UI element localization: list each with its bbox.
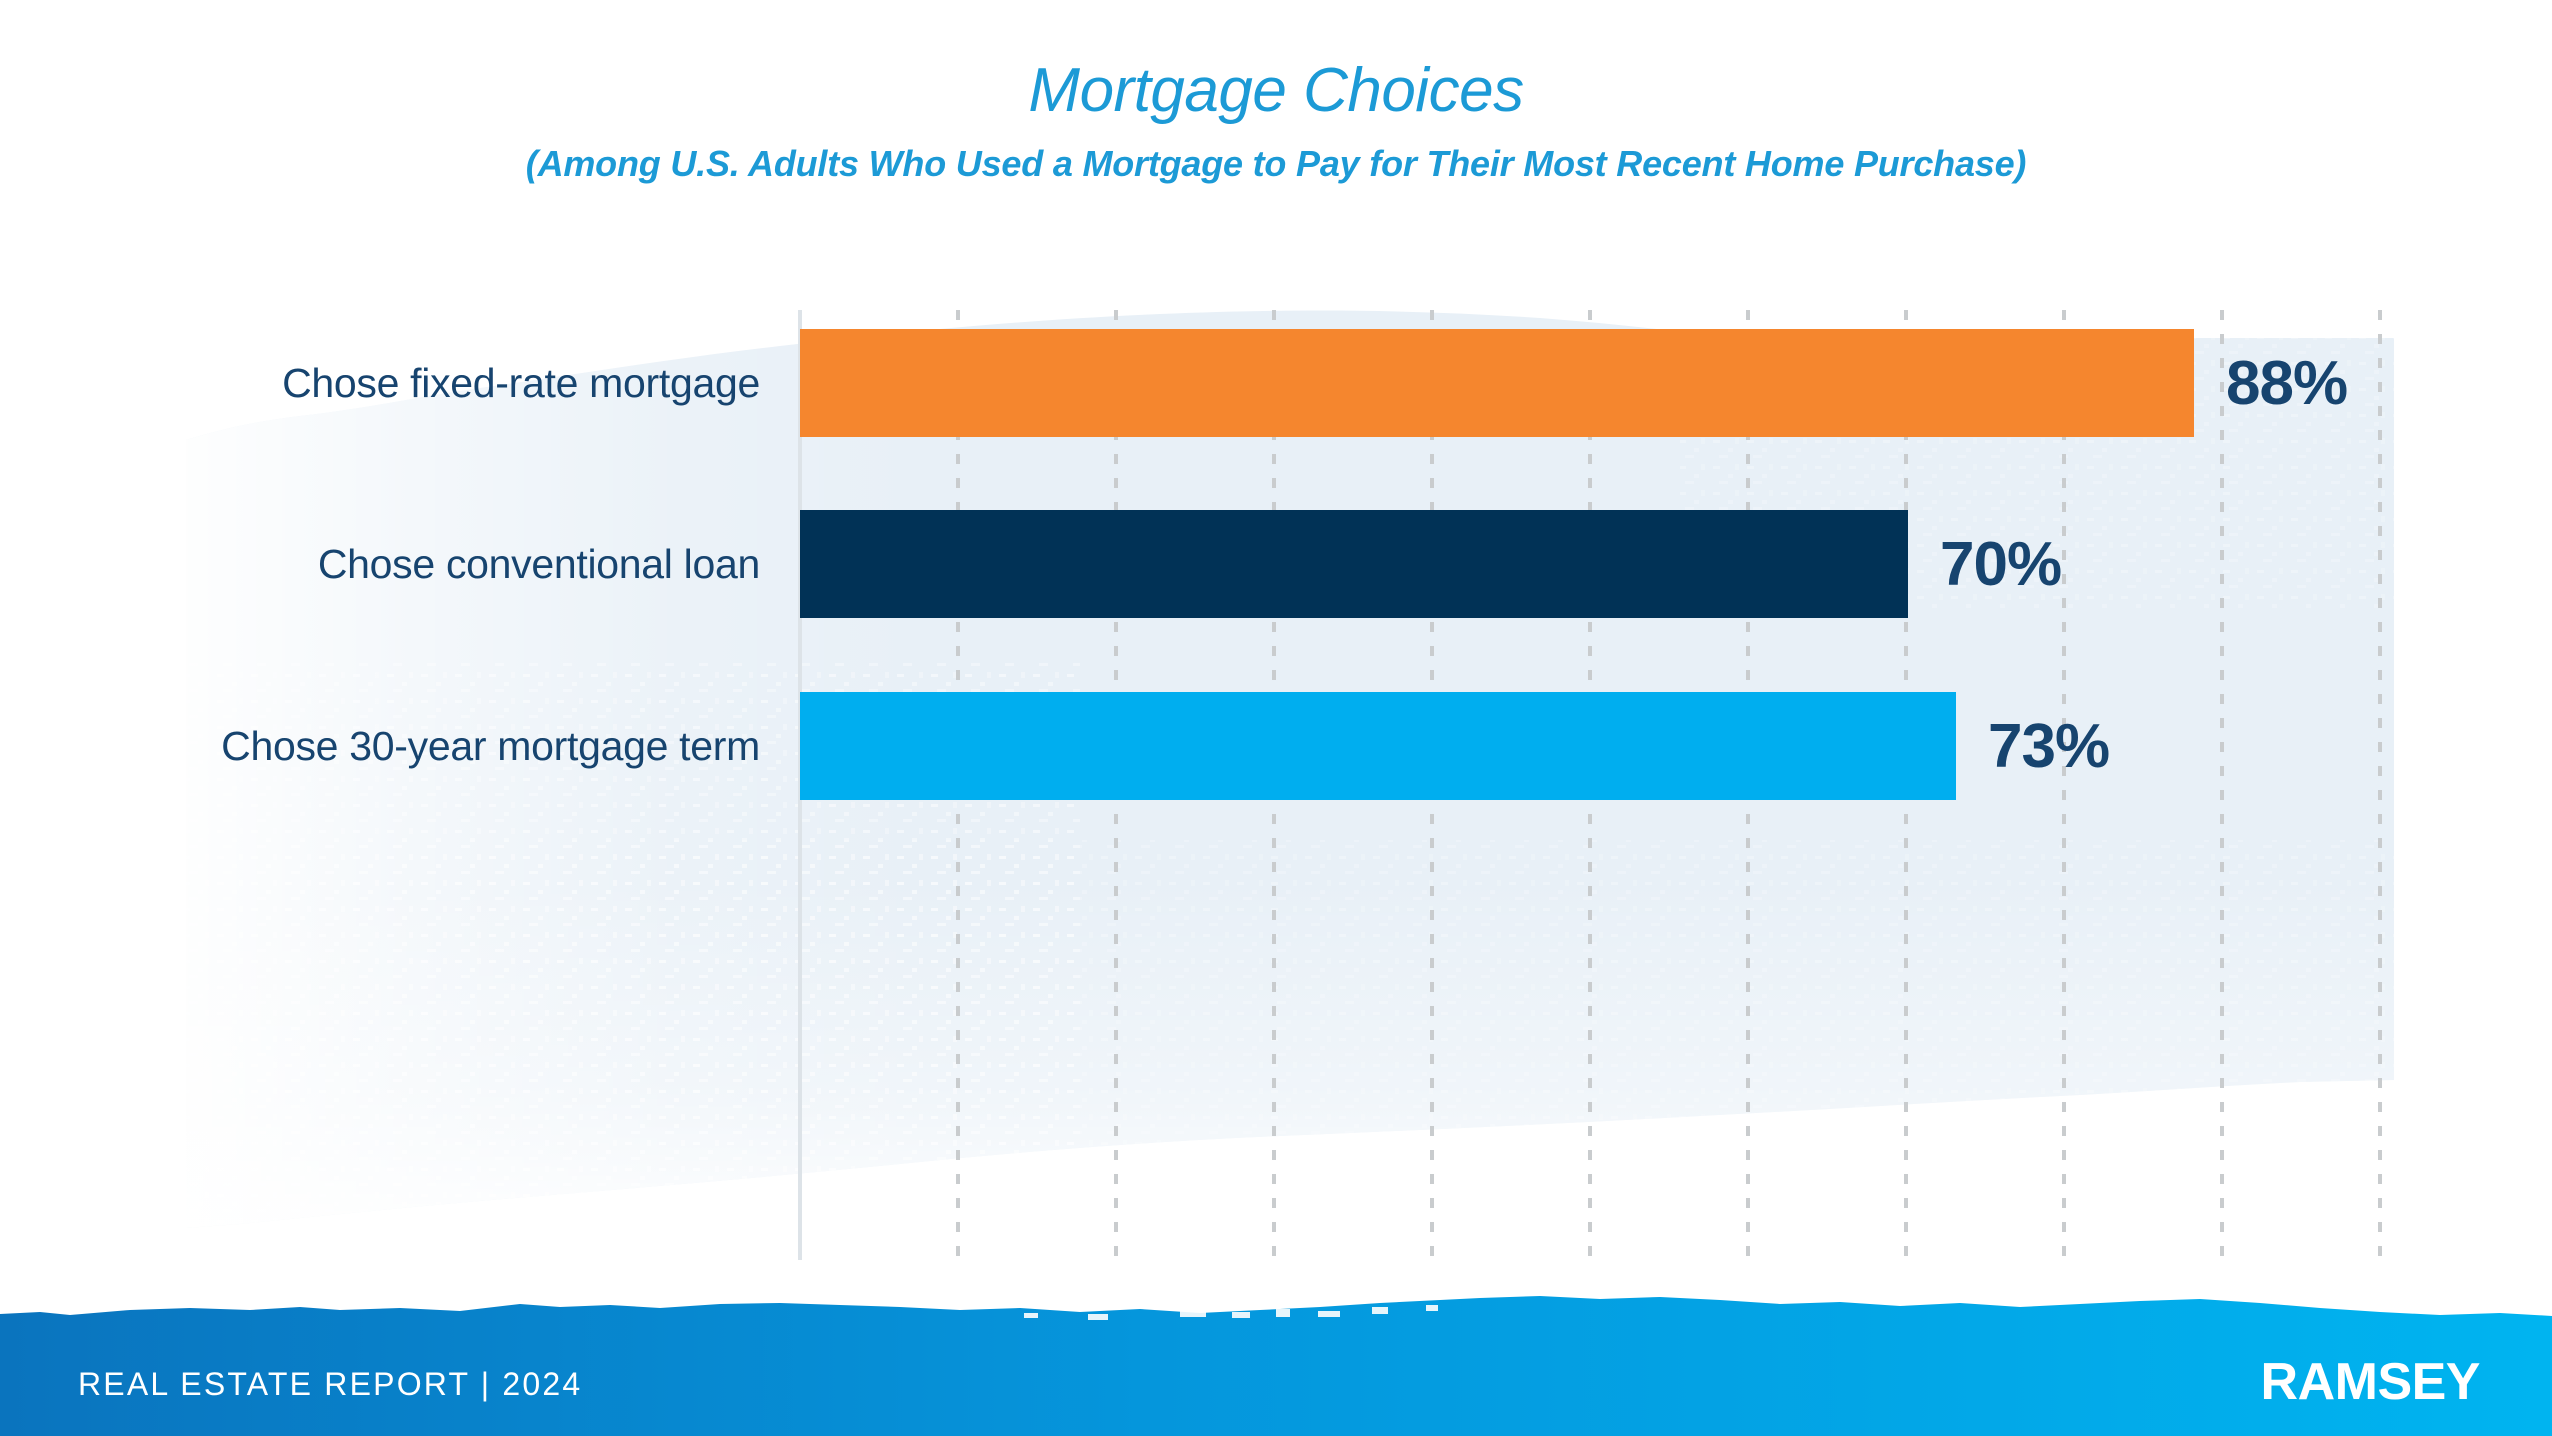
footer-bar: REAL ESTATE REPORT | 2024 RAMSEY — [0, 1290, 2552, 1436]
chart-title: Mortgage Choices — [0, 58, 2552, 123]
bar-row: Chose 30-year mortgage term 73% — [0, 692, 2552, 800]
bar-row: Chose conventional loan 70% — [0, 510, 2552, 618]
bar-row: Chose fixed-rate mortgage 88% — [0, 329, 2552, 437]
bar-value-1: 70% — [1940, 529, 2061, 600]
bar-1[interactable] — [800, 510, 1908, 618]
category-label-2: Chose 30-year mortgage term — [0, 723, 760, 770]
footer-wave-shape — [0, 1290, 2552, 1436]
chart-slide: Mortgage Choices (Among U.S. Adults Who … — [0, 0, 2552, 1436]
bar-2[interactable] — [800, 692, 1956, 800]
title-block: Mortgage Choices (Among U.S. Adults Who … — [0, 58, 2552, 185]
bar-value-0: 88% — [2226, 348, 2347, 419]
category-label-0: Chose fixed-rate mortgage — [0, 360, 760, 407]
category-label-1: Chose conventional loan — [0, 541, 760, 588]
chart-subtitle: (Among U.S. Adults Who Used a Mortgage t… — [0, 143, 2552, 185]
ramsey-logo: RAMSEY — [2261, 1352, 2480, 1412]
footer-report-label: REAL ESTATE REPORT | 2024 — [78, 1366, 582, 1403]
bar-0[interactable] — [800, 329, 2194, 437]
bar-value-2: 73% — [1988, 711, 2109, 782]
plot-area: Chose fixed-rate mortgage 88% Chose conv… — [0, 270, 2552, 1280]
